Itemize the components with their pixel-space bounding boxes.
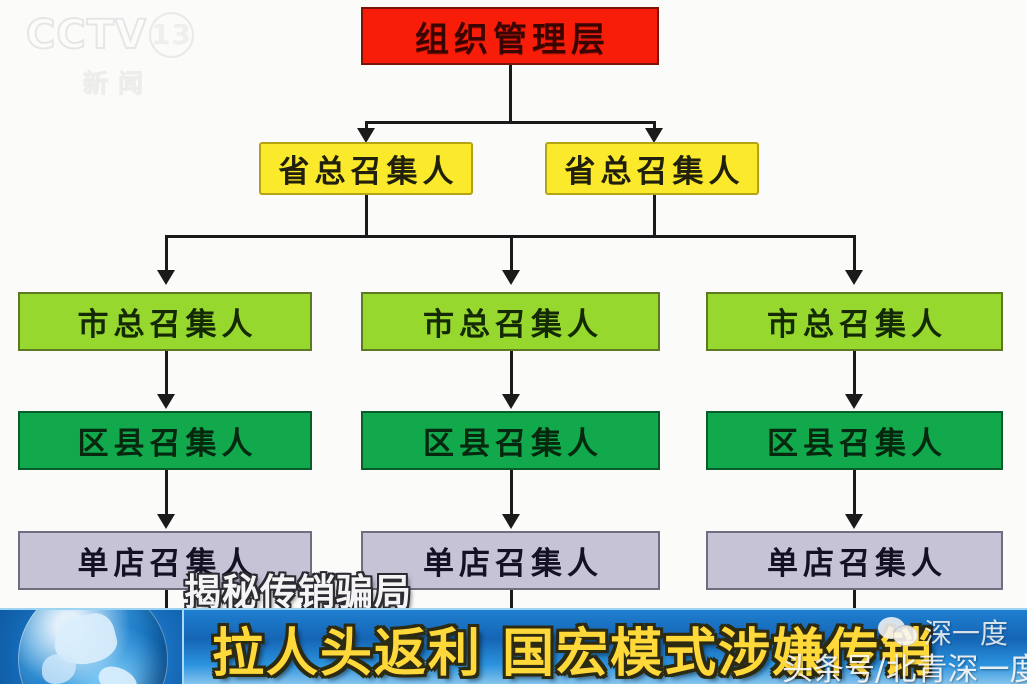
news-headline: 拉人头返利 国宏模式涉嫌传销 [184,610,1027,684]
node-store-convener-right[interactable]: 单店召集人 [706,531,1003,590]
connector-city-right-stem [853,351,856,396]
globe-meridian [18,610,168,684]
connector-district-right-stem [853,470,856,516]
connector-store-mid-tail [510,590,513,608]
connector-district-mid-stem [510,470,513,516]
connector-city-drop-mid [510,235,513,273]
node-city-convener-mid[interactable]: 市总召集人 [361,292,660,351]
arrow-to-district-mid [502,394,520,409]
arrow-root-to-province-right [645,128,663,143]
node-district-convener-right[interactable]: 区县召集人 [706,411,1003,470]
node-city-convener-left[interactable]: 市总召集人 [18,292,312,351]
arrow-to-store-left [157,514,175,529]
connector-city-mid-stem [510,351,513,396]
connector-province-left-stem [365,195,368,237]
arrow-to-store-right [845,514,863,529]
cctv-channel-bug: CCTV 13 新闻 [26,12,186,94]
news-lower-third-banner: 拉人头返利 国宏模式涉嫌传销 [0,608,1027,684]
node-province-convener-left[interactable]: 省总召集人 [259,142,473,195]
globe-icon [0,610,184,684]
arrow-to-city-right [845,270,863,285]
cctv-channel-name: 新闻 [26,64,186,100]
connector-store-left-tail [165,590,168,608]
arrow-to-district-right [845,394,863,409]
arrow-to-district-left [157,394,175,409]
broadcast-screenshot: CCTV 13 新闻 组织管理层 省总召集人 省总召集人 市总召集人 市总召集人… [0,0,1027,684]
cctv-logo-row: CCTV 13 [26,12,186,58]
node-province-convener-right[interactable]: 省总召集人 [545,142,759,195]
node-root-management-layer[interactable]: 组织管理层 [361,7,659,65]
connector-store-right-tail [853,590,856,608]
connector-district-left-stem [165,470,168,516]
connector-root-stem [509,65,512,123]
connector-province-right-stem [653,195,656,237]
connector-city-left-stem [165,351,168,396]
arrow-to-store-mid [502,514,520,529]
connector-root-bus [366,121,655,124]
cctv-channel-number: 13 [149,12,194,58]
connector-city-drop-right [853,235,856,273]
arrow-to-city-left [157,270,175,285]
node-district-convener-left[interactable]: 区县召集人 [18,411,312,470]
connector-city-drop-left [165,235,168,273]
node-city-convener-right[interactable]: 市总召集人 [706,292,1003,351]
node-district-convener-mid[interactable]: 区县召集人 [361,411,660,470]
arrow-root-to-province-left [357,128,375,143]
arrow-to-city-mid [502,270,520,285]
cctv-wordmark: CCTV [26,15,147,55]
